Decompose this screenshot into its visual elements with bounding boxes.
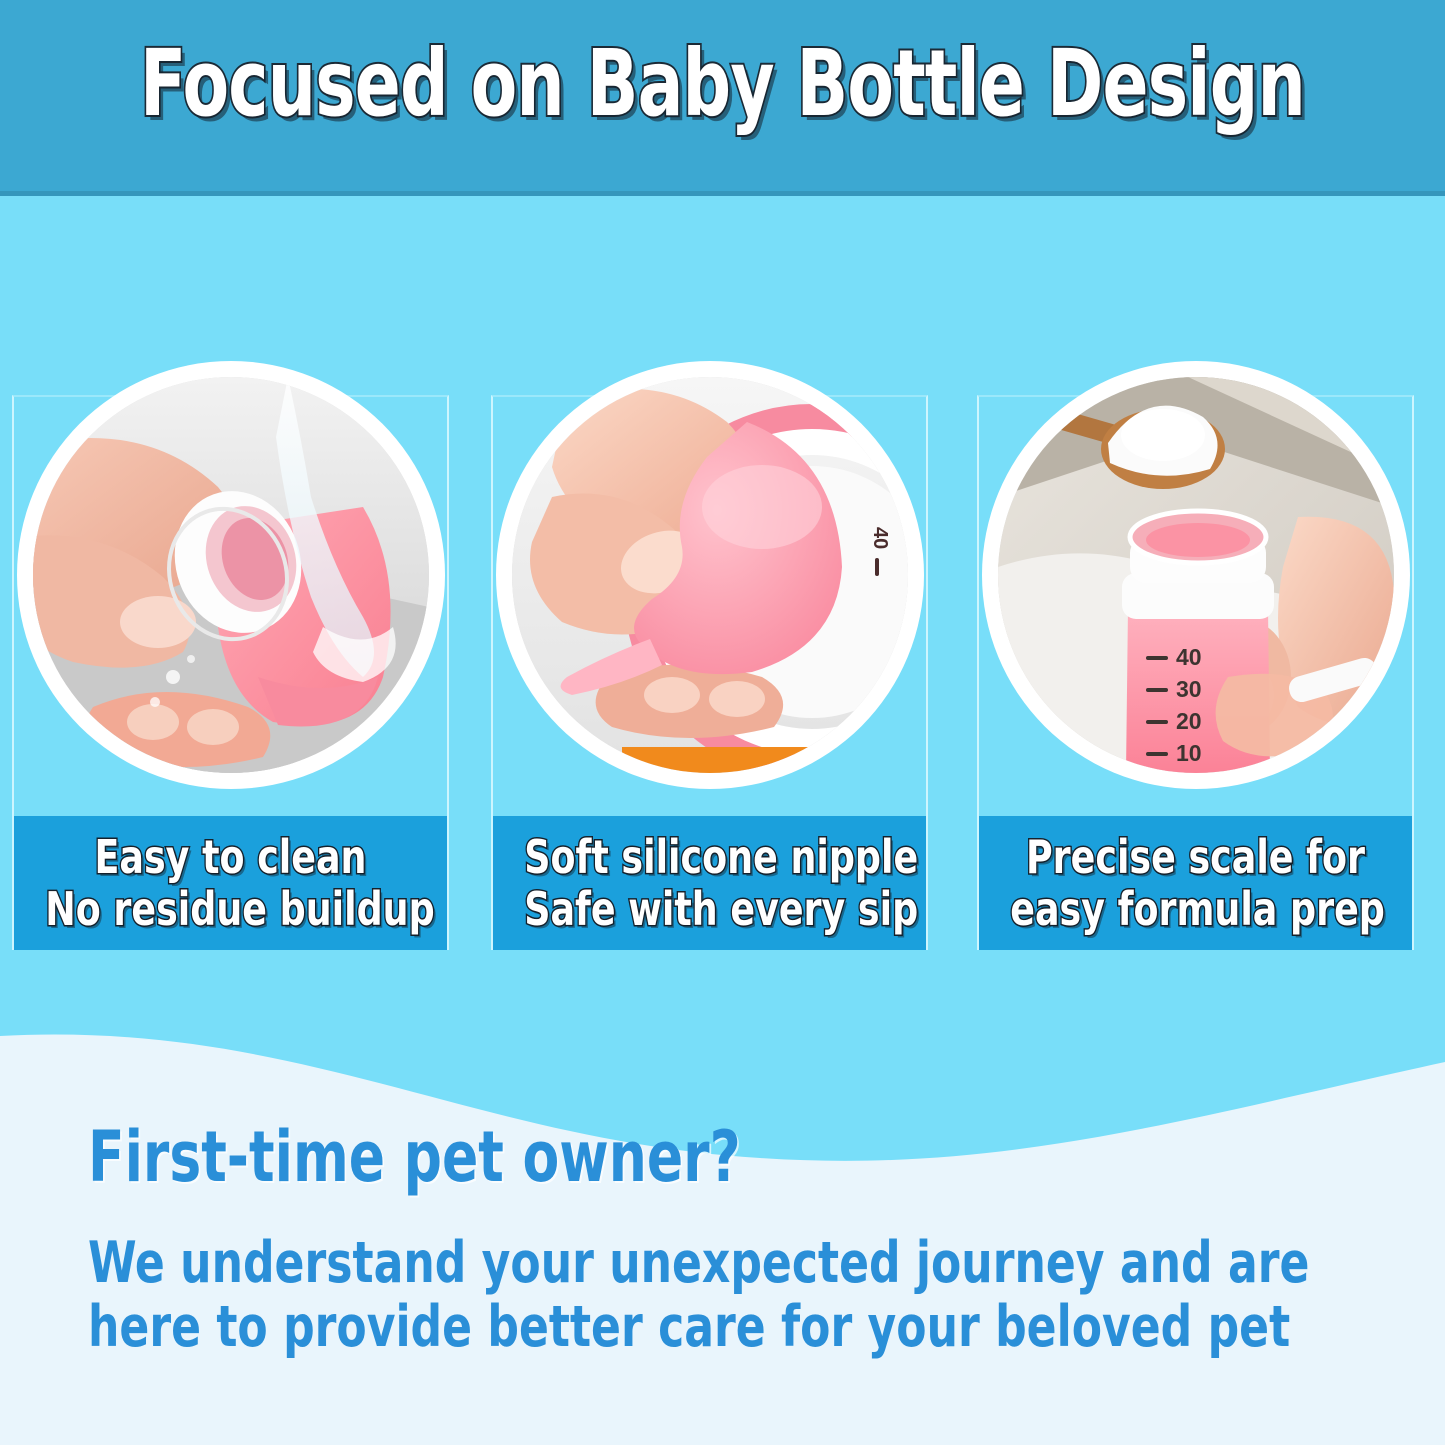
body-line-2: here to provide better care for your bel… bbox=[88, 1296, 1180, 1360]
caption-line-2: Safe with every sip bbox=[524, 884, 894, 936]
scale-label-10: 10 bbox=[1176, 740, 1202, 766]
scale-label-20: 20 bbox=[1176, 708, 1202, 734]
feature-photo-easy-to-clean bbox=[33, 377, 429, 773]
caption-line-2: No residue buildup bbox=[45, 884, 415, 936]
caption-line-1: Soft silicone nipple bbox=[524, 832, 894, 884]
bottom-text-layer: First-time pet owner? We understand your… bbox=[0, 950, 1445, 1445]
page-title: Focused on Baby Bottle Design bbox=[130, 36, 1315, 133]
bottom-headline: First-time pet owner? bbox=[88, 1122, 741, 1192]
scale-label-40: 40 bbox=[1176, 644, 1202, 670]
caption-soft-silicone-nipple: Soft silicone nipple Safe with every sip bbox=[493, 816, 926, 956]
product-infographic: Focused on Baby Bottle Design bbox=[0, 0, 1445, 1445]
scale-label-30: 30 bbox=[1176, 676, 1202, 702]
photo-ring: 40 bbox=[496, 361, 924, 789]
caption-easy-to-clean: Easy to clean No residue buildup bbox=[14, 816, 447, 956]
svg-text:40: 40 bbox=[869, 527, 891, 549]
squeezing-nipple-illustration: 40 bbox=[512, 377, 908, 773]
bottom-body-copy: We understand your unexpected journey an… bbox=[88, 1232, 1180, 1360]
caption-line-1: Precise scale for bbox=[1010, 832, 1380, 884]
caption-line-1: Easy to clean bbox=[45, 832, 415, 884]
feature-photo-soft-silicone-nipple: 40 bbox=[512, 377, 908, 773]
caption-line-2: easy formula prep bbox=[1010, 884, 1380, 936]
body-line-1: We understand your unexpected journey an… bbox=[88, 1232, 1180, 1296]
formula-measuring-illustration: 40 30 20 10 bbox=[998, 377, 1394, 773]
bottom-message-panel: First-time pet owner? We understand your… bbox=[0, 950, 1445, 1445]
feature-card-soft-silicone-nipple[interactable]: 40 bbox=[491, 395, 928, 970]
feature-card-precise-scale[interactable]: 40 30 20 10 bbox=[977, 395, 1414, 970]
rinsing-bottle-illustration bbox=[33, 377, 429, 773]
photo-ring bbox=[17, 361, 445, 789]
caption-precise-scale: Precise scale for easy formula prep bbox=[979, 816, 1412, 956]
photo-ring: 40 30 20 10 bbox=[982, 361, 1410, 789]
feature-photo-precise-scale: 40 30 20 10 bbox=[998, 377, 1394, 773]
feature-card-easy-to-clean[interactable]: Easy to clean No residue buildup bbox=[12, 395, 449, 970]
